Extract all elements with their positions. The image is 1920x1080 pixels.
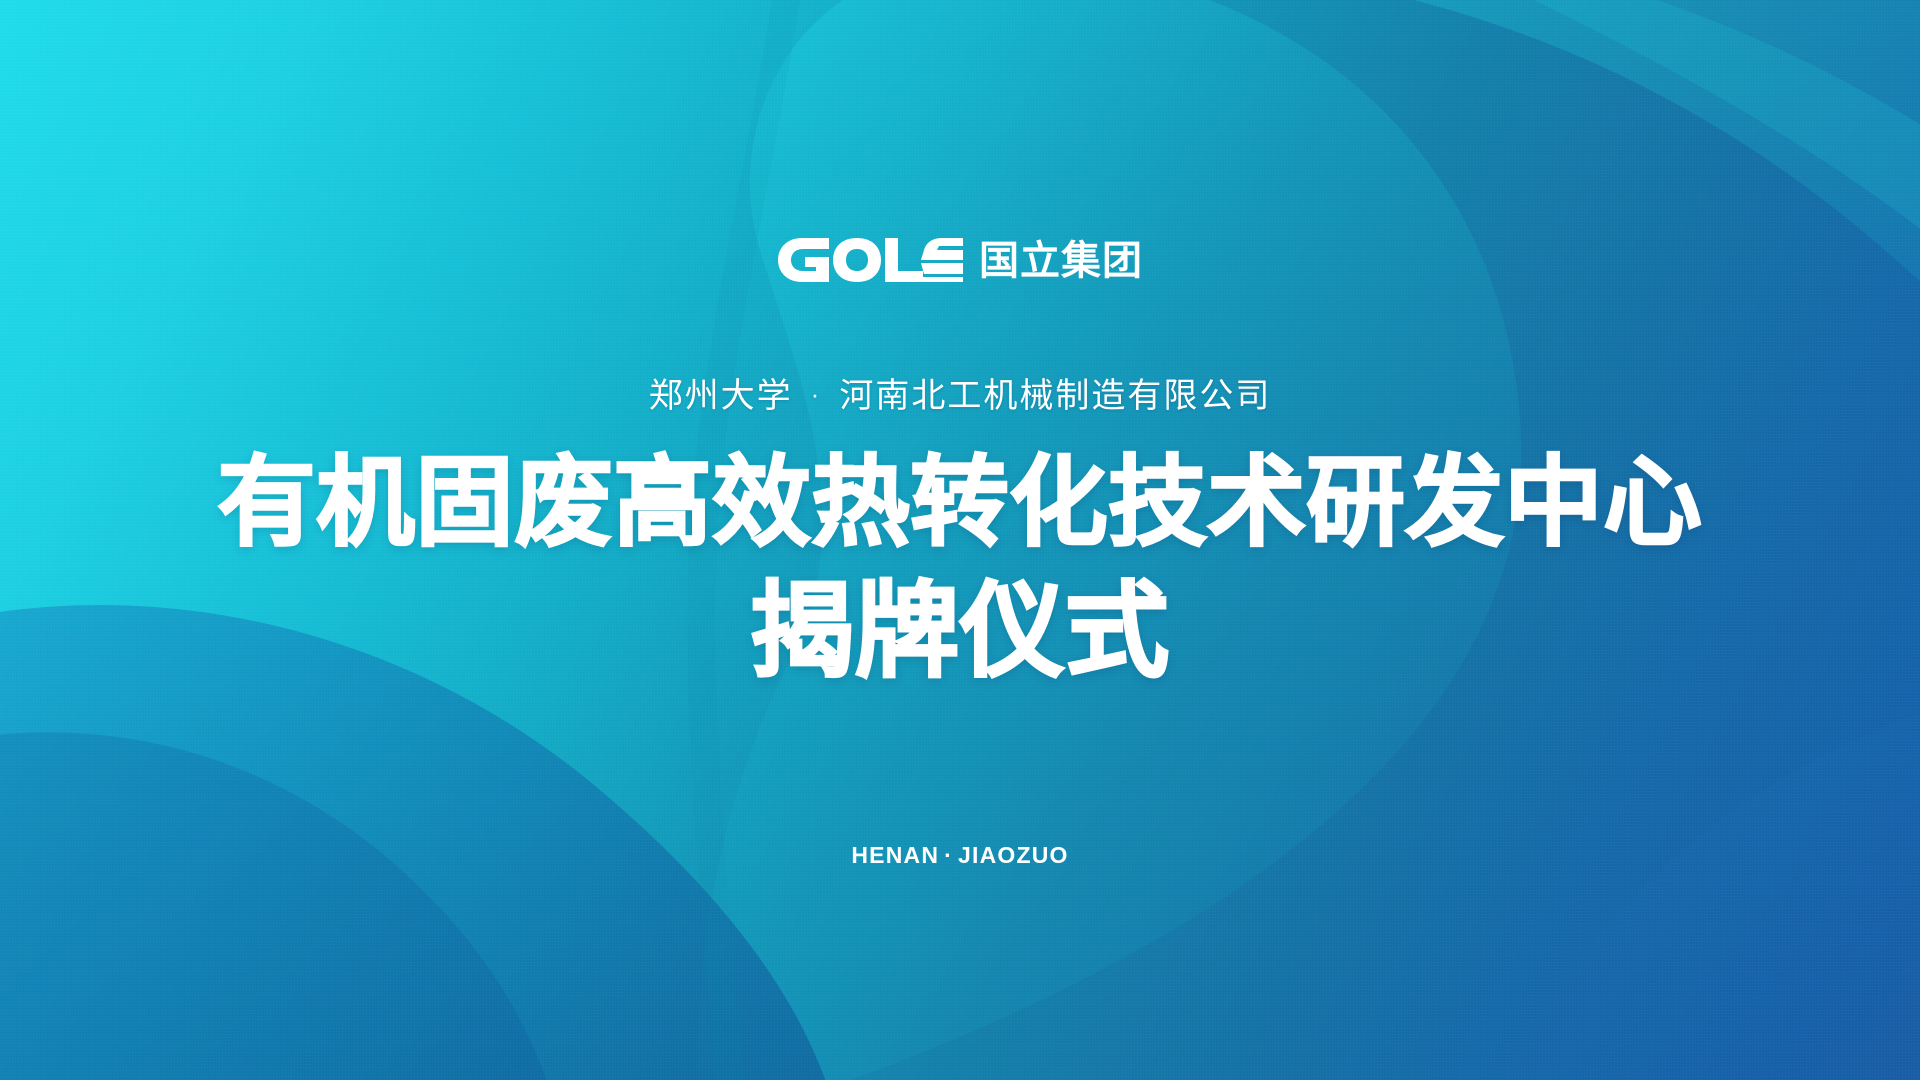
brand-logo-chinese: 国立集团 <box>979 241 1143 281</box>
location-region: HENAN <box>851 842 939 868</box>
page-title: 有机固废高效热转化技术研发中心 揭牌仪式 <box>0 448 1920 690</box>
location-city: JIAOZUO <box>958 842 1069 868</box>
partner-org-right: 河南北工机械制造有限公司 <box>839 377 1271 415</box>
partner-org-left: 郑州大学 <box>649 377 793 415</box>
partner-separator: · <box>793 378 840 412</box>
page-title-line-1: 有机固废高效热转化技术研发中心 <box>0 448 1920 558</box>
slide-content: 国立集团 郑州大学·河南北工机械制造有限公司 有机固废高效热转化技术研发中心 揭… <box>0 0 1920 1080</box>
page-title-line-2: 揭牌仪式 <box>0 574 1920 690</box>
location-separator: · <box>939 842 958 869</box>
event-location: HENAN·JIAOZUO <box>0 842 1920 869</box>
gole-wordmark-icon <box>777 237 963 283</box>
brand-logo-lockup: 国立集团 <box>777 232 1143 288</box>
slide-canvas: 国立集团 郑州大学·河南北工机械制造有限公司 有机固废高效热转化技术研发中心 揭… <box>0 0 1920 1080</box>
partner-organizations: 郑州大学·河南北工机械制造有限公司 <box>0 374 1920 418</box>
